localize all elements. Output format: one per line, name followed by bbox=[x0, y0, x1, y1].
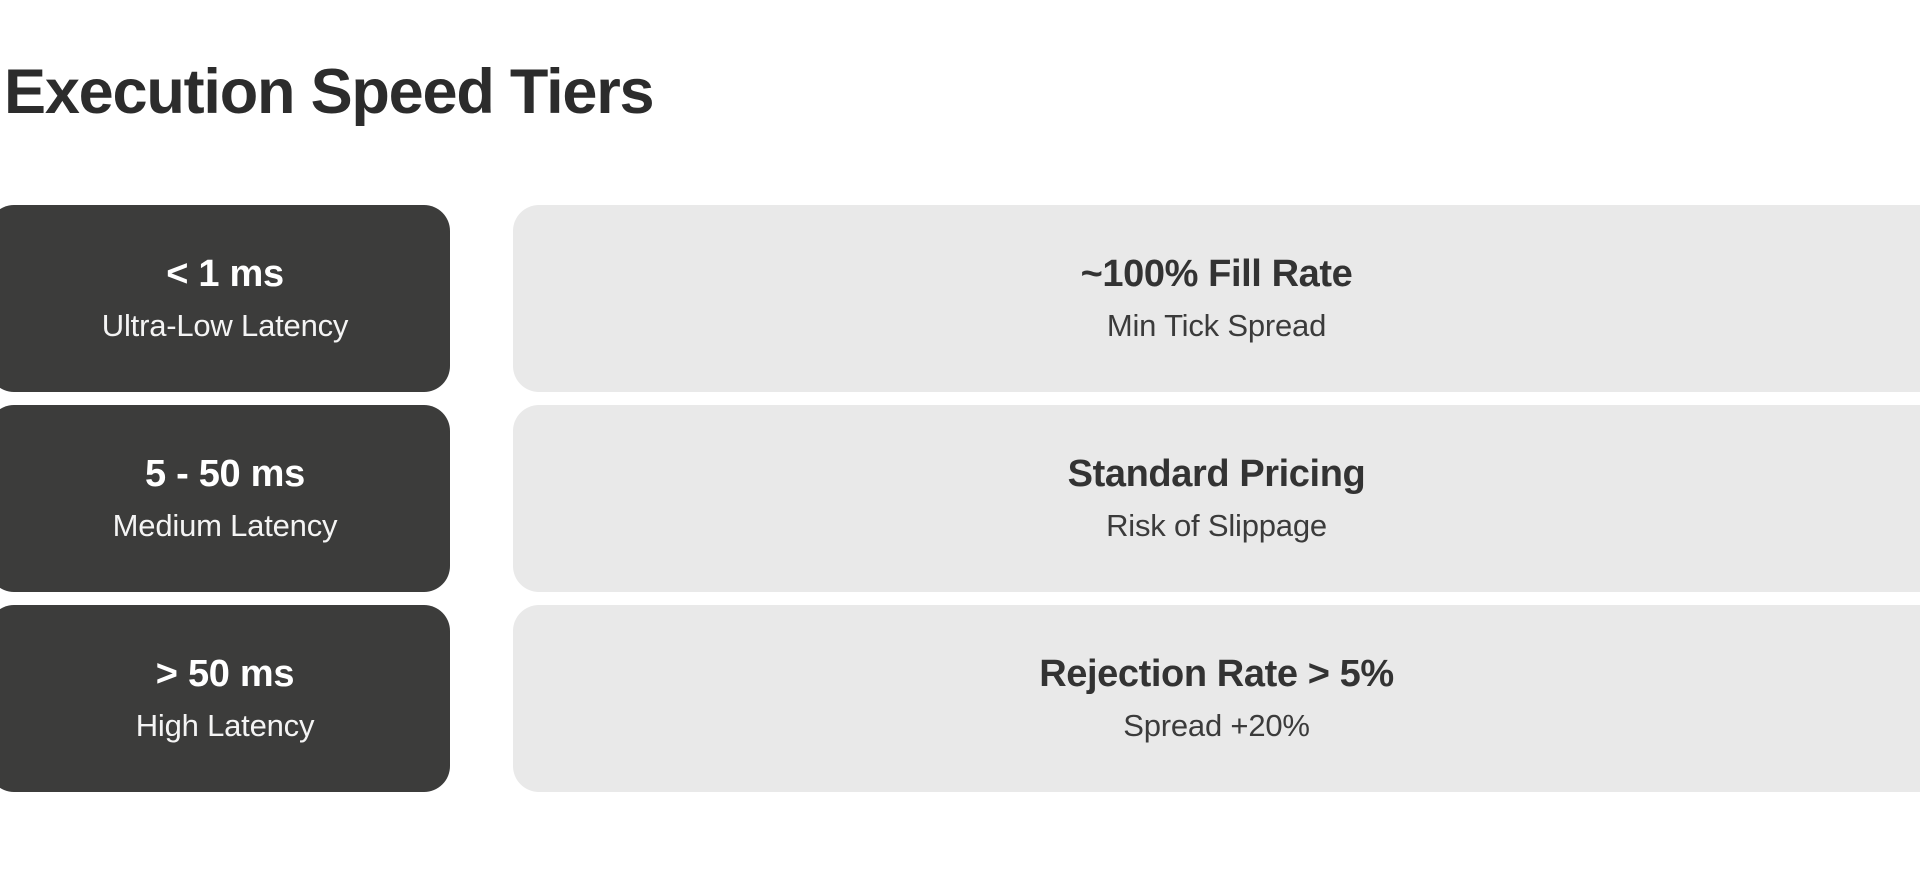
outcome-sub: Risk of Slippage bbox=[1106, 509, 1327, 543]
outcome-headline: Standard Pricing bbox=[1068, 454, 1366, 496]
latency-label: Ultra-Low Latency bbox=[102, 309, 348, 343]
latency-value: > 50 ms bbox=[156, 654, 294, 696]
page-title: Execution Speed Tiers bbox=[4, 58, 653, 126]
tier-list: < 1 ms Ultra-Low Latency ~100% Fill Rate… bbox=[0, 205, 1920, 792]
outcome-panel-high[interactable]: Rejection Rate > 5% Spread +20% bbox=[513, 605, 1920, 792]
outcome-sub: Spread +20% bbox=[1123, 709, 1310, 743]
execution-speed-tiers-infographic: Execution Speed Tiers < 1 ms Ultra-Low L… bbox=[0, 0, 1920, 874]
tier-row: < 1 ms Ultra-Low Latency ~100% Fill Rate… bbox=[0, 205, 1920, 392]
tier-row: 5 - 50 ms Medium Latency Standard Pricin… bbox=[0, 405, 1920, 592]
latency-chip-medium[interactable]: 5 - 50 ms Medium Latency bbox=[0, 405, 450, 592]
tier-row: > 50 ms High Latency Rejection Rate > 5%… bbox=[0, 605, 1920, 792]
outcome-sub: Min Tick Spread bbox=[1107, 309, 1326, 343]
outcome-headline: Rejection Rate > 5% bbox=[1039, 654, 1394, 696]
latency-label: High Latency bbox=[136, 709, 315, 743]
outcome-panel-medium[interactable]: Standard Pricing Risk of Slippage bbox=[513, 405, 1920, 592]
latency-value: 5 - 50 ms bbox=[145, 454, 305, 496]
latency-chip-high[interactable]: > 50 ms High Latency bbox=[0, 605, 450, 792]
outcome-panel-ultra-low[interactable]: ~100% Fill Rate Min Tick Spread bbox=[513, 205, 1920, 392]
outcome-headline: ~100% Fill Rate bbox=[1081, 254, 1353, 296]
latency-value: < 1 ms bbox=[166, 254, 284, 296]
latency-chip-ultra-low[interactable]: < 1 ms Ultra-Low Latency bbox=[0, 205, 450, 392]
latency-label: Medium Latency bbox=[113, 509, 338, 543]
